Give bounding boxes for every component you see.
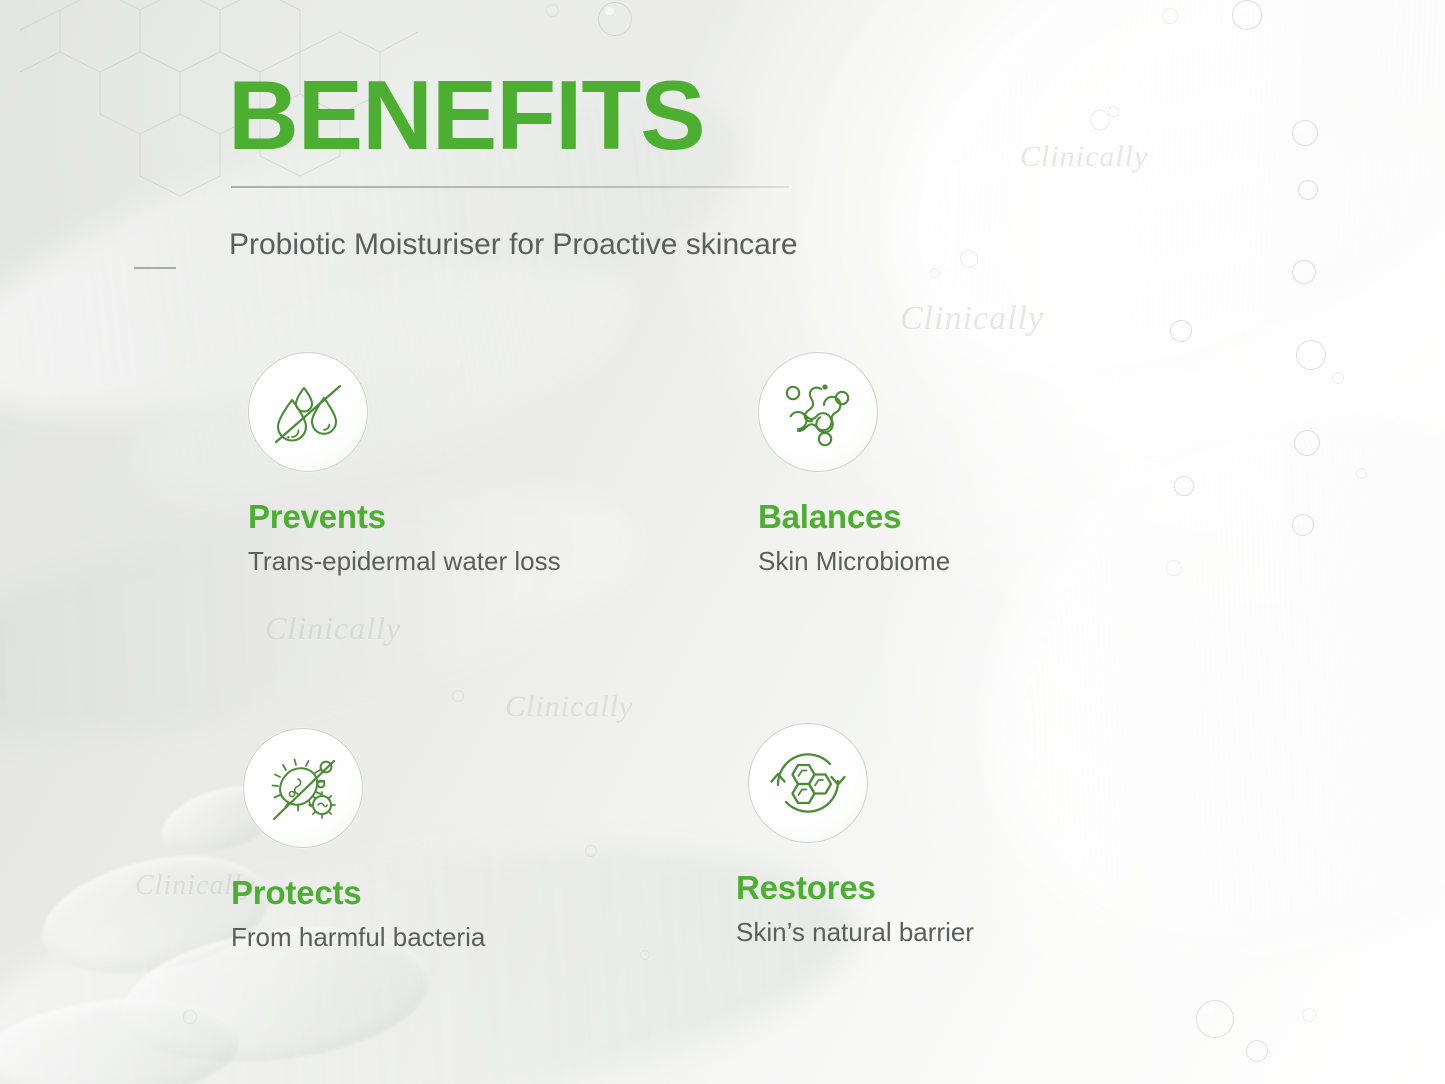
benefits-grid: Prevents Trans-epidermal water loss	[0, 0, 1445, 1084]
benefit-heading: Protects	[231, 874, 485, 912]
benefit-description: From harmful bacteria	[231, 922, 485, 953]
benefit-item-protects: Protects From harmful bacteria	[243, 728, 485, 953]
benefit-description: Skin Microbiome	[758, 546, 950, 577]
harmful-bacteria-slashed-icon	[264, 749, 342, 827]
honeycomb-renewal-arrows-icon	[768, 743, 848, 823]
benefit-icon-badge	[758, 352, 878, 472]
benefit-heading: Prevents	[248, 498, 561, 536]
benefit-icon-badge	[248, 352, 368, 472]
benefit-heading: Restores	[736, 869, 974, 907]
benefit-description: Skin’s natural barrier	[736, 917, 974, 948]
benefit-description: Trans-epidermal water loss	[248, 546, 561, 577]
benefit-icon-badge	[243, 728, 363, 848]
microbiome-bacteria-icon	[779, 373, 857, 451]
benefit-item-restores: Restores Skin’s natural barrier	[748, 723, 974, 948]
benefit-icon-badge	[748, 723, 868, 843]
benefit-item-balances: Balances Skin Microbiome	[758, 352, 950, 577]
water-droplets-slashed-icon	[270, 374, 346, 450]
benefit-item-prevents: Prevents Trans-epidermal water loss	[248, 352, 561, 577]
benefit-heading: Balances	[758, 498, 950, 536]
